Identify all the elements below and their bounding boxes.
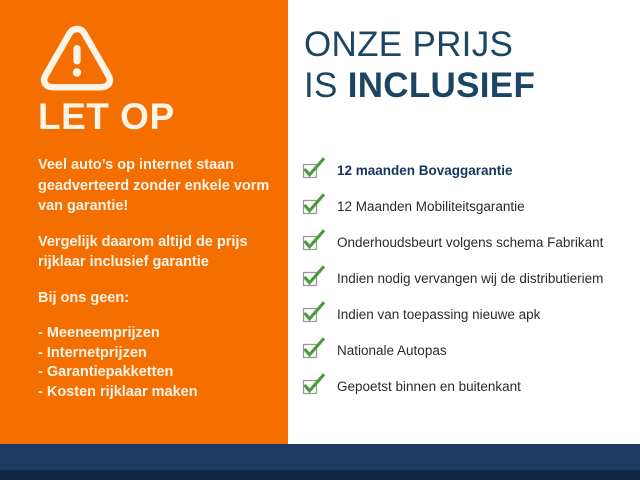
list-item: Onderhoudsbeurt volgens schema Fabrikant: [302, 224, 640, 260]
list-item: - Meeneemprijzen: [38, 324, 274, 344]
list-item-label: Gepoetst binnen en buitenkant: [337, 378, 521, 395]
inclusions-list: 12 maanden Bovaggarantie 12 Maanden Mobi…: [302, 152, 640, 404]
list-item-label: 12 Maanden Mobiliteitsgarantie: [337, 198, 525, 215]
list-item: - Garantiepakketten: [38, 363, 274, 383]
headline-prefix: IS: [304, 66, 348, 105]
list-item: Nationale Autopas: [302, 332, 640, 368]
list-item: Indien van toepassing nieuwe apk: [302, 296, 640, 332]
inclusions-headline: ONZE PRIJS IS INCLUSIEF: [304, 24, 535, 106]
headline-line-1: ONZE PRIJS: [304, 24, 535, 65]
promo-banner: LET OP Veel auto’s op internet staan gea…: [0, 0, 640, 480]
headline-emphasis: INCLUSIEF: [348, 66, 535, 105]
check-box-icon: [302, 301, 326, 325]
inclusions-panel: ONZE PRIJS IS INCLUSIEF 12 maanden Bovag…: [288, 0, 640, 444]
warning-paragraph-1: Veel auto’s op internet staan geadvertee…: [38, 155, 274, 217]
list-item-label: Indien van toepassing nieuwe apk: [337, 306, 540, 323]
exclusion-list: - Meeneemprijzen - Internetprijzen - Gar…: [38, 324, 274, 402]
footer-bar: [0, 444, 640, 480]
list-item: Gepoetst binnen en buitenkant: [302, 368, 640, 404]
warning-panel: LET OP Veel auto’s op internet staan gea…: [0, 0, 288, 444]
warning-body: Veel auto’s op internet staan geadvertee…: [38, 155, 274, 402]
list-item: 12 Maanden Mobiliteitsgarantie: [302, 188, 640, 224]
check-box-icon: [302, 157, 326, 181]
warning-paragraph-3: Bij ons geen:: [38, 288, 274, 309]
check-box-icon: [302, 373, 326, 397]
list-item: Indien nodig vervangen wij de distributi…: [302, 260, 640, 296]
check-box-icon: [302, 265, 326, 289]
check-box-icon: [302, 193, 326, 217]
footer-shadow-strip: [0, 470, 640, 480]
list-item-label: Onderhoudsbeurt volgens schema Fabrikant: [337, 234, 603, 251]
page-title: LET OP: [38, 97, 175, 137]
list-item: - Kosten rijklaar maken: [38, 383, 274, 403]
list-item-label: Nationale Autopas: [337, 342, 447, 359]
check-box-icon: [302, 229, 326, 253]
headline-line-2: IS INCLUSIEF: [304, 65, 535, 106]
list-item-label: 12 maanden Bovaggarantie: [337, 162, 513, 179]
list-item: 12 maanden Bovaggarantie: [302, 152, 640, 188]
warning-triangle-icon: [40, 25, 114, 91]
list-item-label: Indien nodig vervangen wij de distributi…: [337, 270, 603, 287]
list-item: - Internetprijzen: [38, 344, 274, 364]
warning-paragraph-2: Vergelijk daarom altijd de prijs rijklaa…: [38, 232, 274, 273]
check-box-icon: [302, 337, 326, 361]
